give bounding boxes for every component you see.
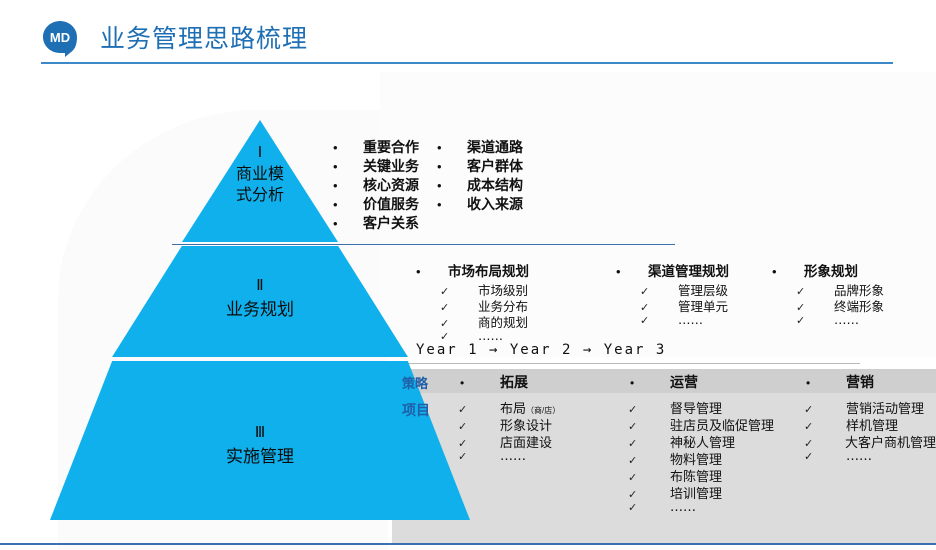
planning-group: •市场布局规划✓市场级别✓业务分布✓商的规划✓…… — [416, 260, 596, 344]
planning-list-item: ✓终端形象 — [796, 296, 902, 312]
planning-group-title: 渠道管理规划 — [648, 260, 729, 280]
business-planning-content: •市场布局规划✓市场级别✓业务分布✓商的规划✓……•渠道管理规划✓管理层级✓管理… — [416, 260, 922, 344]
speech-bubble-logo-icon: MD — [41, 20, 79, 58]
bullet-label: 价值服务 — [363, 196, 419, 215]
bullet-label: 客户关系 — [363, 215, 419, 234]
check-icon: ✓ — [628, 454, 670, 467]
planning-group-title: 市场布局规划 — [448, 260, 529, 280]
implementation-list-item: ✓神秘人管理 — [628, 432, 804, 449]
planning-list-item: ✓商的规划 — [440, 312, 596, 328]
check-icon: ✓ — [628, 403, 670, 416]
tier-2-roman: Ⅱ — [112, 273, 408, 298]
check-icon: ✓ — [796, 301, 834, 314]
implementation-item-label: …… — [500, 449, 526, 464]
planning-list-item: ✓…… — [796, 312, 902, 328]
implementation-list-item: ✓…… — [628, 500, 804, 517]
check-icon: ✓ — [440, 285, 478, 298]
implementation-body-row: 项目 ✓布局（商/店）✓形象设计✓店面建设✓……✓督导管理✓驻店员及临促管理✓神… — [402, 398, 936, 538]
check-icon: ✓ — [458, 450, 500, 463]
bullet-label: 关键业务 — [363, 158, 419, 177]
implementation-list-item: ✓督导管理 — [628, 398, 804, 415]
check-icon: ✓ — [640, 285, 678, 298]
implementation-list-item: ✓营销活动管理 — [804, 398, 936, 415]
check-icon: ✓ — [440, 301, 478, 314]
header-divider — [41, 62, 893, 64]
business-model-column-1: •重要合作•关键业务•核心资源•价值服务•客户关系 — [333, 138, 419, 233]
implementation-list-item: ✓布陈管理 — [628, 466, 804, 483]
planning-list-item: ✓…… — [640, 312, 752, 328]
bullet-icon: • — [333, 138, 363, 157]
check-icon: ✓ — [640, 314, 678, 327]
bullet-icon: • — [416, 264, 448, 279]
check-icon: ✓ — [796, 285, 834, 298]
project-row-label: 项目 — [402, 398, 458, 538]
business-model-bullets: •重要合作•关键业务•核心资源•价值服务•客户关系 •渠道通路•客户群体•成本结… — [333, 138, 523, 233]
implementation-list-item: ✓物料管理 — [628, 449, 804, 466]
check-icon: ✓ — [628, 437, 670, 450]
implementation-list-item: ✓…… — [804, 449, 936, 466]
bullet-label: 核心资源 — [363, 177, 419, 196]
check-icon: ✓ — [640, 301, 678, 314]
planning-group-header: •市场布局规划 — [416, 260, 596, 280]
bullet-label: 成本结构 — [467, 177, 523, 196]
planning-group-header: •形象规划 — [772, 260, 902, 280]
planning-group: •渠道管理规划✓管理层级✓管理单元✓…… — [616, 260, 752, 344]
planning-list-item: ✓市场级别 — [440, 280, 596, 296]
check-icon: ✓ — [458, 420, 500, 433]
check-icon: ✓ — [796, 314, 834, 327]
business-model-bullet-item: •客户群体 — [437, 157, 523, 176]
planning-group-header: •渠道管理规划 — [616, 260, 752, 280]
planning-item-label: …… — [678, 312, 703, 327]
business-model-bullet-item: •价值服务 — [333, 195, 419, 214]
business-model-bullet-item: •核心资源 — [333, 176, 419, 195]
business-model-bullet-item: •收入来源 — [437, 195, 523, 214]
bottom-divider — [0, 543, 936, 545]
tier-1-name: 商业模式分析 — [182, 163, 338, 205]
planning-group-title: 形象规划 — [804, 260, 858, 280]
implementation-header-row: 策略 •拓展•运营•营销 — [402, 371, 936, 393]
implementation-item-label: …… — [670, 500, 696, 515]
implementation-group-header: •运营 — [630, 372, 806, 392]
bullet-icon: • — [616, 264, 648, 279]
page-title: 业务管理思路梳理 — [100, 19, 308, 55]
implementation-group-header: •营销 — [806, 372, 874, 392]
business-model-bullet-item: •客户关系 — [333, 214, 419, 233]
tier-2-name: 业务规划 — [112, 298, 408, 323]
bullet-icon: • — [437, 138, 467, 157]
business-model-bullet-item: •关键业务 — [333, 157, 419, 176]
planning-list-item: ✓品牌形象 — [796, 280, 902, 296]
strategy-row-label: 策略 — [402, 373, 460, 392]
check-icon: ✓ — [804, 450, 846, 463]
implementation-group-items: ✓布局（商/店）✓形象设计✓店面建设✓…… — [458, 398, 628, 538]
bullet-icon: • — [806, 376, 846, 390]
check-icon: ✓ — [804, 403, 846, 416]
implementation-group-title: 营销 — [846, 372, 874, 392]
pyramid-tier-planning[interactable]: Ⅱ 业务规划 — [112, 246, 408, 357]
pyramid-tier-2-label: Ⅱ 业务规划 — [112, 273, 408, 323]
business-model-column-2: •渠道通路•客户群体•成本结构•收入来源 — [437, 138, 523, 233]
implementation-list-item: ✓大客户商机管理 — [804, 432, 936, 449]
bullet-icon: • — [333, 195, 363, 214]
bullet-label: 收入来源 — [467, 196, 523, 215]
check-icon: ✓ — [458, 403, 500, 416]
planning-timeline: Year 1 → Year 2 → Year 3 — [416, 342, 666, 358]
bullet-label: 重要合作 — [363, 139, 419, 158]
business-model-bullet-item: •重要合作 — [333, 138, 419, 157]
bullet-icon: • — [333, 214, 363, 233]
planning-list-item: ✓管理单元 — [640, 296, 752, 312]
implementation-group-title: 拓展 — [500, 372, 528, 392]
implementation-list-item: ✓布局（商/店） — [458, 398, 628, 415]
bullet-icon: • — [333, 157, 363, 176]
business-model-bullet-item: •渠道通路 — [437, 138, 523, 157]
bullet-icon: • — [333, 176, 363, 195]
implementation-list-item: ✓样机管理 — [804, 415, 936, 432]
implementation-list-item: ✓培训管理 — [628, 483, 804, 500]
bullet-icon: • — [437, 157, 467, 176]
implementation-group-title: 运营 — [670, 372, 698, 392]
implementation-list-item: ✓形象设计 — [458, 415, 628, 432]
business-model-bullet-item: •成本结构 — [437, 176, 523, 195]
implementation-item-label: …… — [846, 449, 872, 464]
check-icon: ✓ — [458, 437, 500, 450]
implementation-list-item: ✓店面建设 — [458, 432, 628, 449]
check-icon: ✓ — [804, 437, 845, 450]
planning-item-label: …… — [478, 328, 503, 343]
planning-list-item: ✓业务分布 — [440, 296, 596, 312]
page-header: MD 业务管理思路梳理 — [0, 0, 936, 72]
bullet-icon: • — [437, 176, 467, 195]
check-icon: ✓ — [440, 317, 478, 330]
bullet-label: 客户群体 — [467, 158, 523, 177]
check-icon: ✓ — [628, 420, 670, 433]
tier-1-roman: Ⅰ — [182, 142, 338, 163]
pyramid-tier-business-model[interactable]: Ⅰ 商业模式分析 — [182, 120, 338, 242]
bullet-icon: • — [772, 264, 804, 279]
pyramid-tier-1-label: Ⅰ 商业模式分析 — [182, 142, 338, 205]
check-icon: ✓ — [628, 471, 670, 484]
slide-body: Ⅲ 实施管理 Ⅱ 业务规划 Ⅰ 商业模式分析 •重要合作•关键业务•核心资源•价… — [0, 72, 936, 550]
implementation-list-item: ✓驻店员及临促管理 — [628, 415, 804, 432]
check-icon: ✓ — [628, 488, 670, 501]
bullet-icon: • — [630, 376, 670, 390]
planning-list-item: ✓管理层级 — [640, 280, 752, 296]
planning-item-label: …… — [834, 312, 859, 327]
implementation-list-item: ✓…… — [458, 449, 628, 466]
check-icon: ✓ — [804, 420, 846, 433]
bullet-icon: • — [437, 195, 467, 214]
svg-text:MD: MD — [50, 30, 70, 45]
planning-group: •形象规划✓品牌形象✓终端形象✓…… — [772, 260, 902, 344]
bullet-label: 渠道通路 — [467, 139, 523, 158]
implementation-group-items: ✓督导管理✓驻店员及临促管理✓神秘人管理✓物料管理✓布陈管理✓培训管理✓…… — [628, 398, 804, 538]
implementation-group-header: •拓展 — [460, 372, 630, 392]
bullet-icon: • — [460, 376, 500, 390]
check-icon: ✓ — [628, 501, 670, 514]
implementation-group-items: ✓营销活动管理✓样机管理✓大客户商机管理✓…… — [804, 398, 936, 538]
